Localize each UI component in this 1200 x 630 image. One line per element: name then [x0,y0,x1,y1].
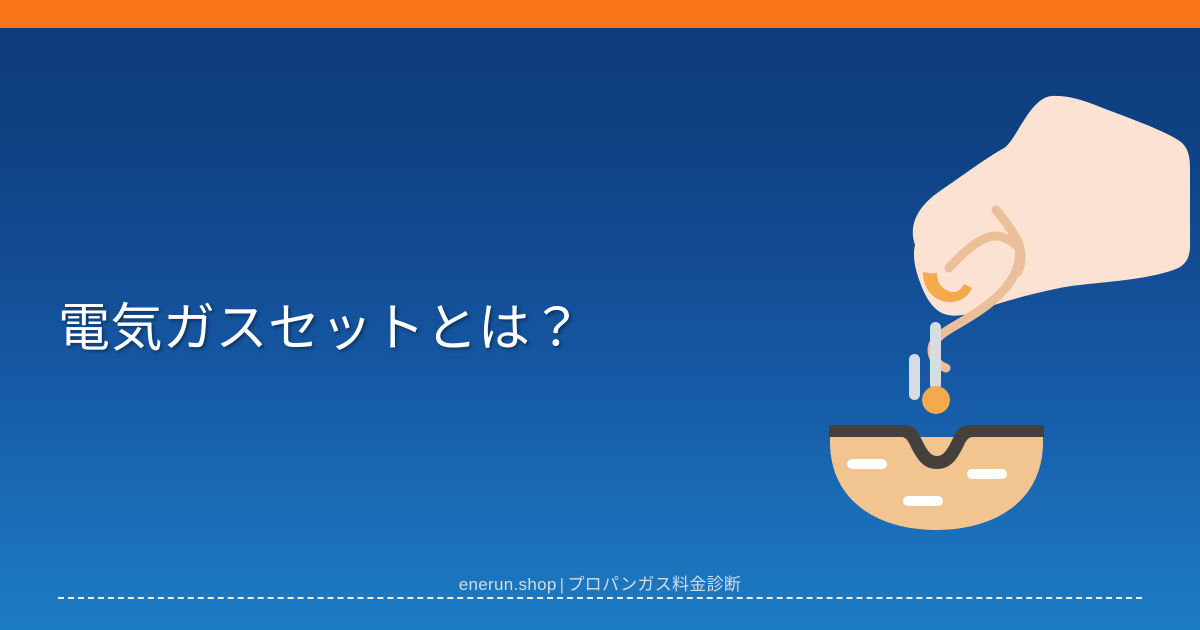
footer-divider [58,597,1142,599]
slide-canvas: 電気ガスセットとは？ enerun.shop|プロパンガス料金診断 [0,0,1200,630]
footer-site-name: enerun.shop [459,575,557,594]
motion-line-long [930,322,941,390]
footer-caption: enerun.shop|プロパンガス料金診断 [0,574,1200,595]
hand-fist [913,96,1190,316]
footer-separator: | [557,575,568,594]
coin-round [922,386,950,414]
purse-body [830,437,1043,530]
page-title: 電気ガスセットとは？ [58,299,818,360]
illustration-hand-coin-purse [790,60,1200,560]
motion-line-short [909,354,920,400]
purse [829,425,1044,530]
top-accent-bar [0,0,1200,28]
footer-tagline: プロパンガス料金診断 [567,575,741,594]
